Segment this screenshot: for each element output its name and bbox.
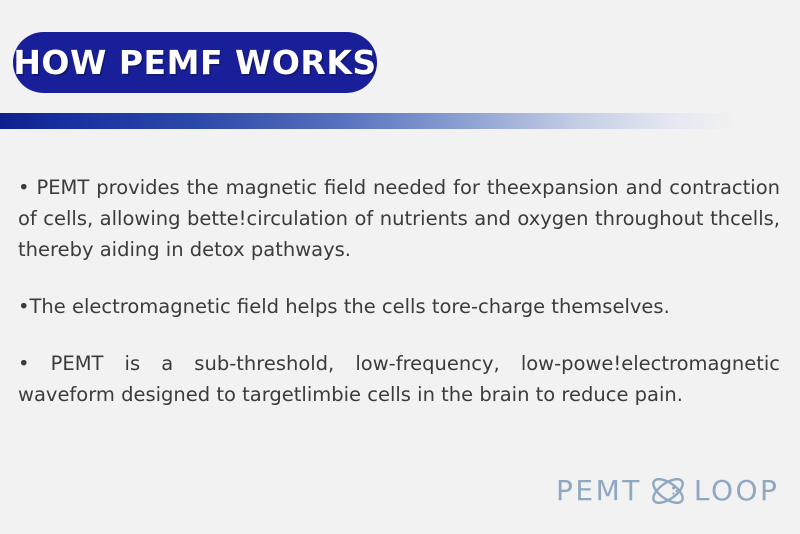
logo-word-loop: LOOP <box>694 477 780 505</box>
bullet-paragraph-3: • PEMT is a sub-threshold, low-frequency… <box>18 348 780 410</box>
logo-word-pemt: PEMT <box>556 477 642 505</box>
atom-icon <box>648 473 688 509</box>
bullet-paragraph-2: •The electromagnetic field helps the cel… <box>18 291 780 322</box>
gradient-divider <box>0 113 800 129</box>
bullet-paragraph-1: • PEMT provides the magnetic field neede… <box>18 172 780 265</box>
page-title: HOW PEMF WORKS <box>13 46 376 79</box>
brand-logo: PEMT LOOP <box>556 473 779 509</box>
page-title-badge: HOW PEMF WORKS <box>13 32 377 93</box>
body-content: • PEMT provides the magnetic field neede… <box>18 172 780 410</box>
